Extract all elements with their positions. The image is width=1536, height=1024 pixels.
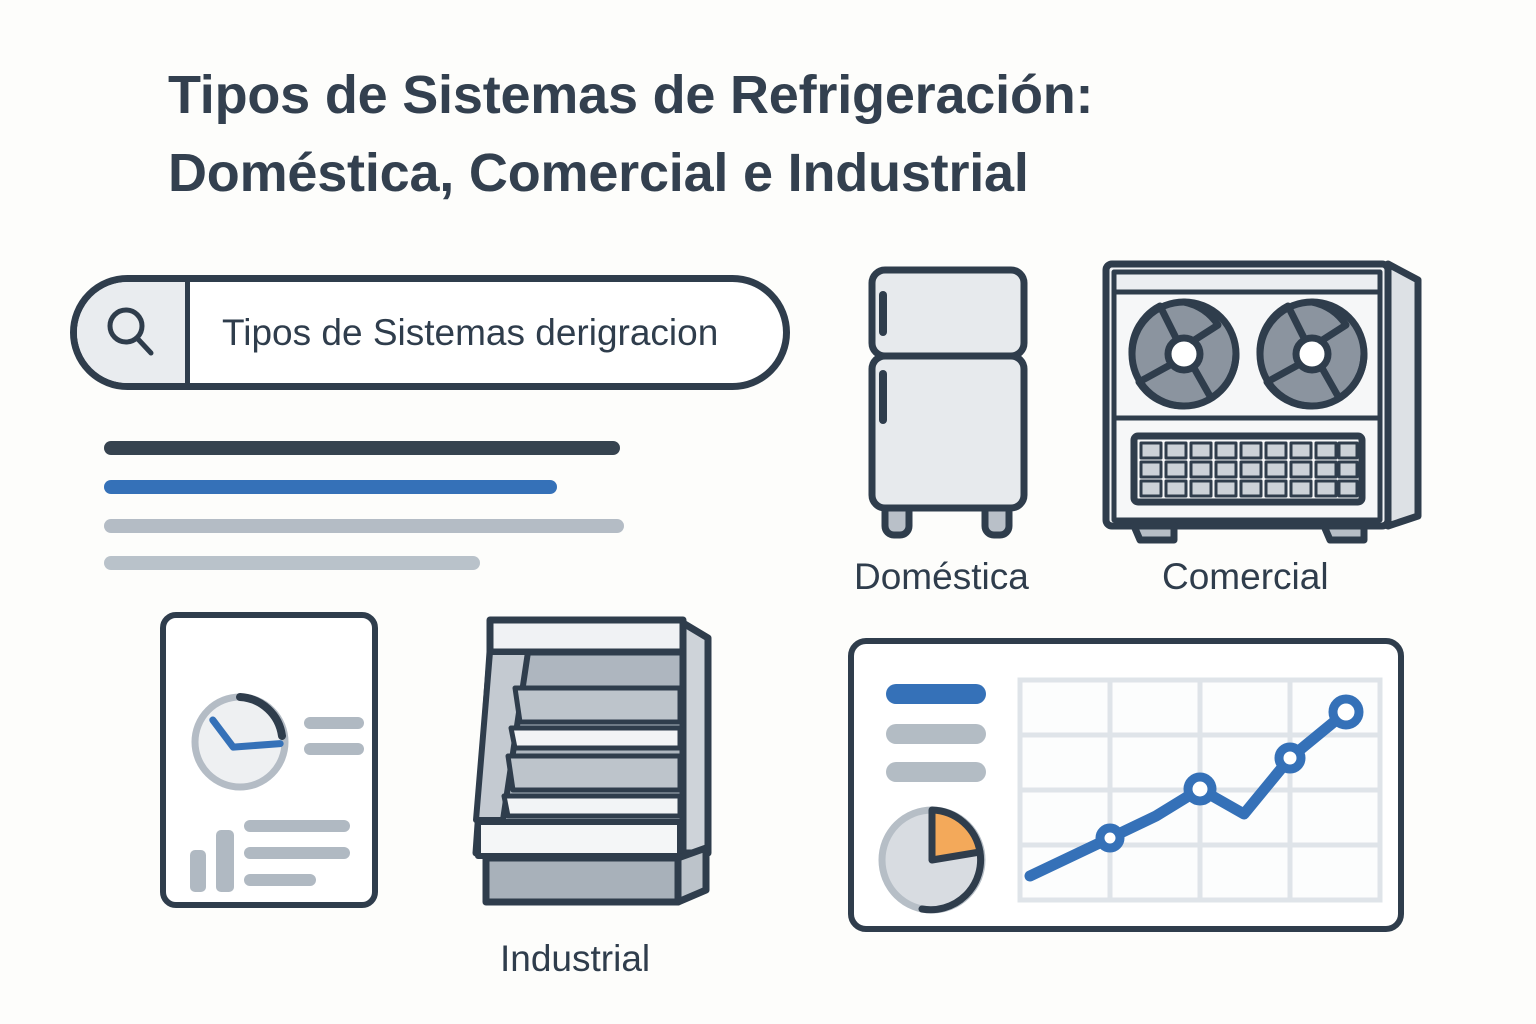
document-report-card[interactable] [160,612,378,908]
condenser-unit-icon[interactable] [1096,258,1426,550]
doc-text-line [244,820,350,832]
doc-text-line [244,874,316,886]
search-bar[interactable]: Tipos de Sistemas derigracion [70,275,790,390]
line-chart [1016,676,1384,904]
doc-bar-small [190,850,206,892]
refrigerator-icon[interactable] [860,262,1050,552]
doc-text-line [304,717,364,729]
search-icon [99,301,163,365]
page-title-line-2: Doméstica, Comercial e Industrial [168,134,1368,212]
pie-chart [874,802,990,918]
legend-item-tertiary [886,762,986,782]
caption-comercial: Comercial [1162,556,1329,598]
legend-item-secondary [886,724,986,744]
doc-text-line [244,847,350,859]
caption-industrial: Industrial [500,938,650,980]
result-bar-snippet [104,556,480,570]
legend-item-primary [886,684,986,704]
caption-domestica: Doméstica [854,556,1029,598]
doc-bar-large [216,830,234,892]
search-icon-container[interactable] [77,282,190,383]
result-bar-title [104,441,620,455]
page-title: Tipos de Sistemas de Refrigeración: Domé… [168,56,1368,212]
result-bar-snippet [104,519,624,533]
doc-text-line [304,743,364,755]
infographic-canvas: Tipos de Sistemas de Refrigeración: Domé… [0,0,1536,1024]
pie-gauge-icon [188,690,292,794]
analytics-dashboard-card[interactable] [848,638,1404,932]
result-bar-link[interactable] [104,480,557,494]
page-title-line-1: Tipos de Sistemas de Refrigeración: [168,56,1368,134]
open-display-case-icon[interactable] [458,610,726,910]
search-input[interactable]: Tipos de Sistemas derigracion [190,312,783,354]
